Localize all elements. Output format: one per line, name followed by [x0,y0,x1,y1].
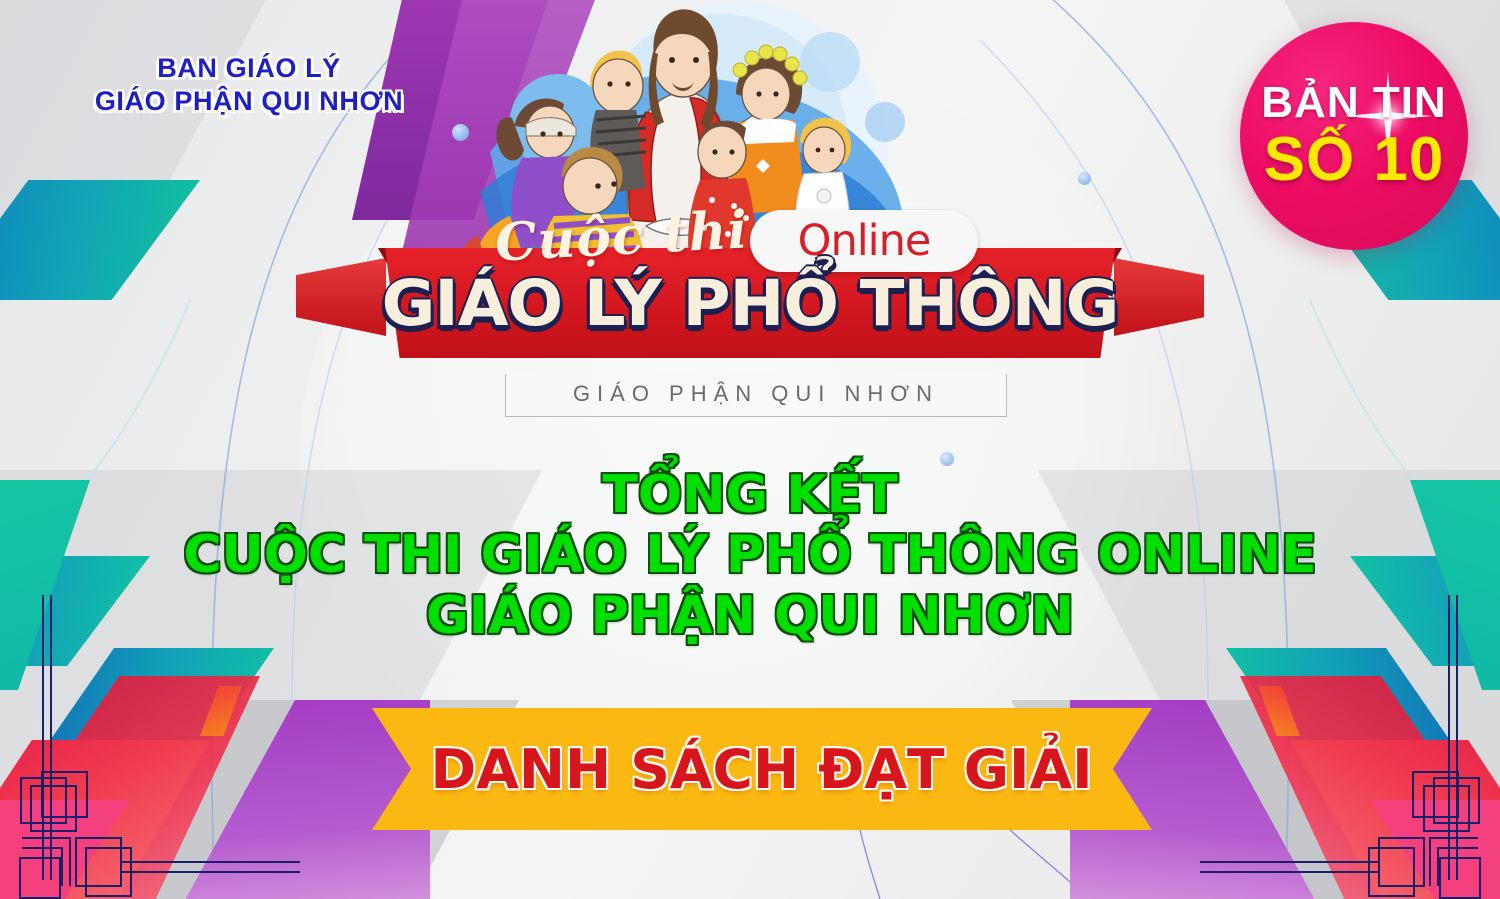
badge-line-1: BẢN TIN [1261,81,1446,125]
blue-dot-decor-3 [940,452,954,466]
headline-line-2: CUỘC THI GIÁO LÝ PHỔ THÔNG ONLINE [0,525,1500,585]
contest-logo: Cuộc thi Online GIÁO LÝ PHỔ THÔNG GIÁO P… [330,0,1170,422]
headline-block: TỔNG KẾT CUỘC THI GIÁO LÝ PHỔ THÔNG ONLI… [0,465,1500,646]
headline-line-3: GIÁO PHẬN QUI NHƠN [0,586,1500,646]
award-list-banner: DANH SÁCH ĐẠT GIẢI [372,708,1152,830]
logo-subtitle: GIÁO PHẬN QUI NHƠN [505,374,1007,417]
bulletin-number-badge[interactable]: BẢN TIN SỐ 10 [1240,22,1468,250]
poster-canvas: BAN GIÁO LÝ GIÁO PHẬN QUI NHƠN BẢN TIN S… [0,0,1500,899]
headline-line-1: TỔNG KẾT [0,465,1500,525]
badge-line-2: SỐ 10 [1264,129,1445,191]
award-list-banner-label: DANH SÁCH ĐẠT GIẢI [431,738,1093,801]
logo-ribbon-title: GIÁO LÝ PHỔ THÔNG [313,250,1187,358]
